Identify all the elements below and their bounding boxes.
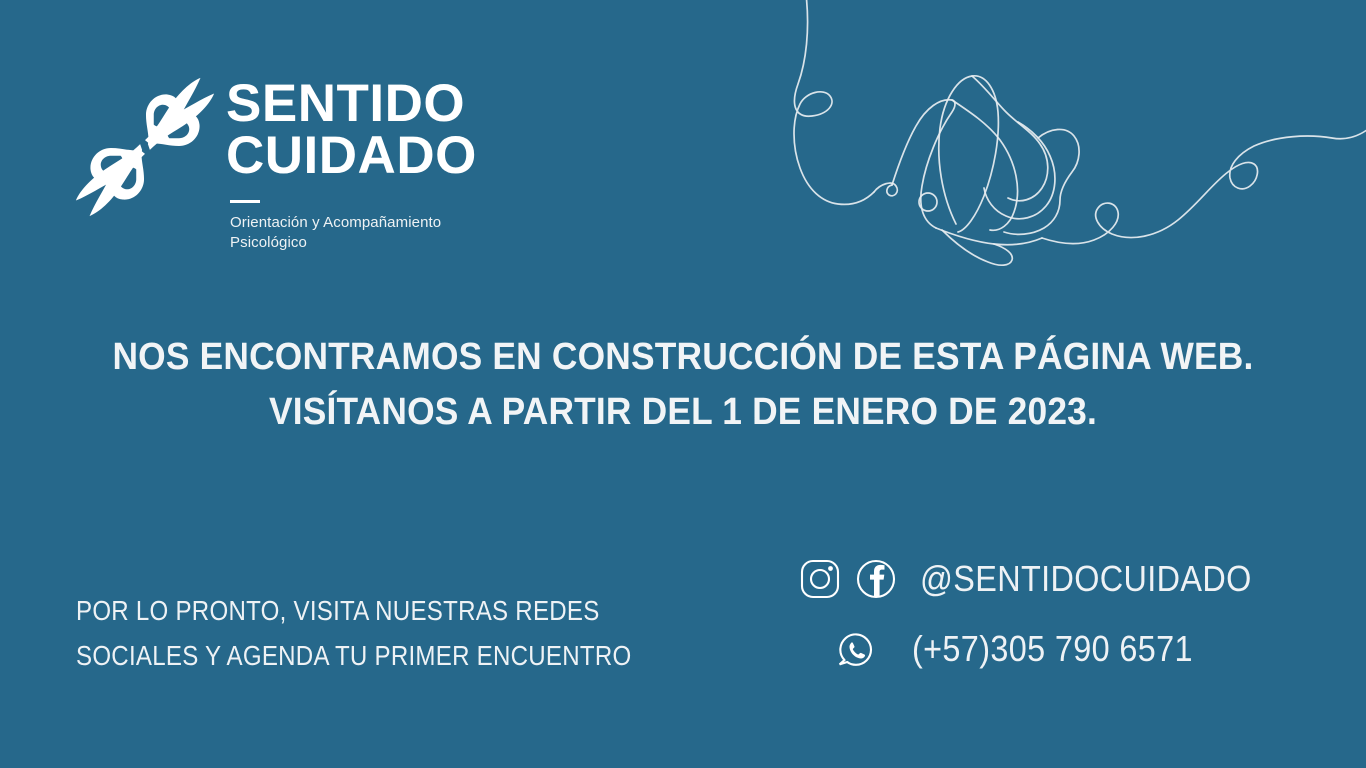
social-invitation-text: POR LO PRONTO, VISITA NUESTRAS REDES SOC… [76, 588, 632, 679]
social-handle-row: @SENTIDOCUIDADO [798, 548, 1289, 610]
construction-landing-page: SENTIDO CUIDADO Orientación y Acompañami… [0, 0, 1366, 768]
brand-wordmark: SENTIDO CUIDADO Orientación y Acompañami… [226, 68, 477, 253]
butterfly-pinwheel-icon [72, 72, 218, 222]
brand-name-line-1: SENTIDO [226, 78, 477, 130]
brand-tagline-line-1: Orientación y Acompañamiento [230, 214, 441, 231]
headline-line-2: VISÍTANOS A PARTIR DEL 1 DE ENERO DE 202… [48, 385, 1318, 440]
butterfly-line-art-decoration [760, 0, 1366, 270]
headline-line-1: NOS ENCONTRAMOS EN CONSTRUCCIÓN DE ESTA … [48, 330, 1318, 385]
social-handle[interactable]: @SENTIDOCUIDADO [920, 558, 1252, 600]
brand-logo: SENTIDO CUIDADO Orientación y Acompañami… [72, 68, 477, 253]
blurb-line-1: POR LO PRONTO, VISITA NUESTRAS REDES [76, 588, 632, 633]
phone-row: (+57)305 790 6571 [798, 618, 1289, 680]
facebook-icon[interactable] [854, 557, 898, 601]
page-headline: NOS ENCONTRAMOS EN CONSTRUCCIÓN DE ESTA … [48, 330, 1318, 441]
social-icon-group [798, 557, 898, 601]
whatsapp-icon[interactable] [834, 627, 878, 671]
tagline-divider [230, 200, 260, 203]
blurb-line-2: SOCIALES Y AGENDA TU PRIMER ENCUENTRO [76, 633, 632, 678]
brand-name-line-2: CUIDADO [226, 130, 477, 182]
brand-tagline: Orientación y Acompañamiento Psicológico [230, 213, 477, 253]
phone-number[interactable]: (+57)305 790 6571 [912, 628, 1193, 670]
brand-tagline-line-2: Psicológico [230, 234, 307, 251]
contact-block: @SENTIDOCUIDADO (+57)305 790 6571 [798, 548, 1289, 680]
instagram-icon[interactable] [798, 557, 842, 601]
